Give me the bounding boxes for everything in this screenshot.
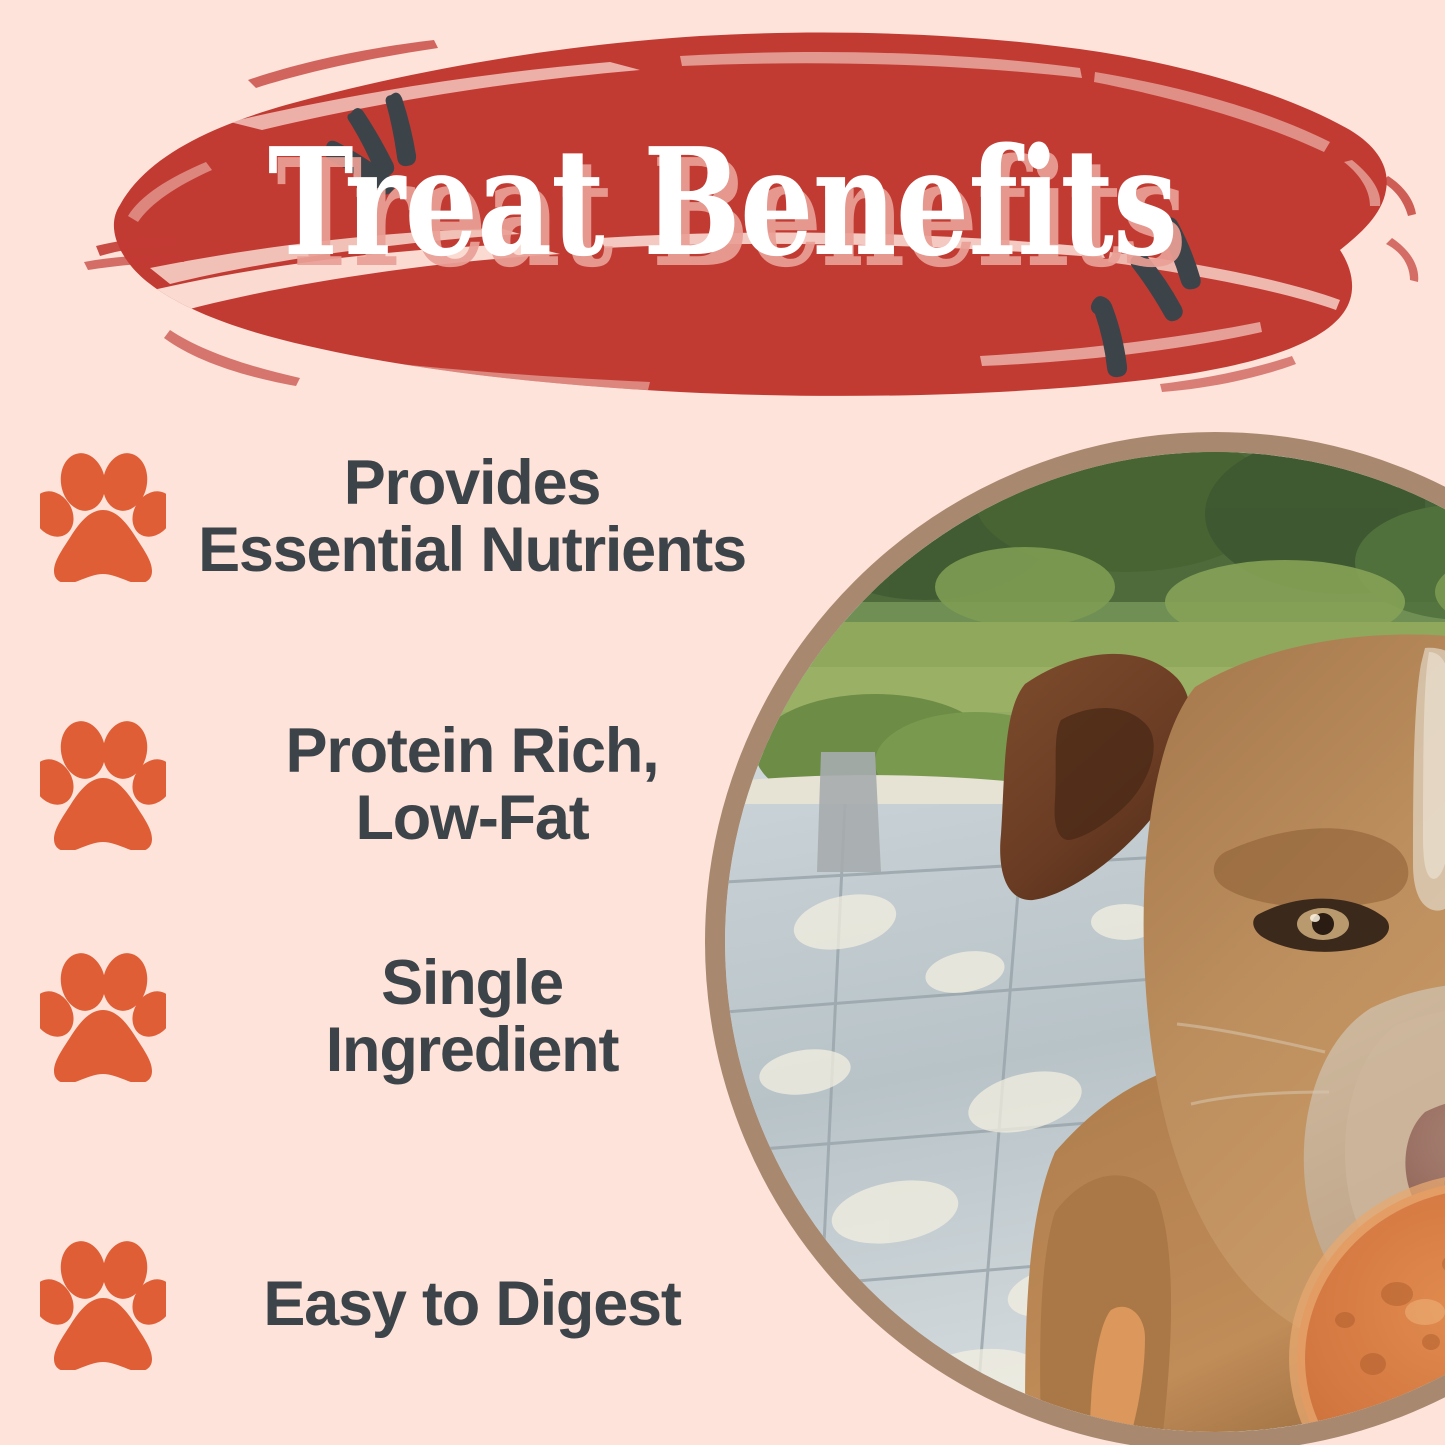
paw-print-icon bbox=[40, 720, 166, 850]
benefit-label: Easy to Digest bbox=[184, 1271, 760, 1338]
paw-print-icon bbox=[40, 1240, 166, 1370]
benefit-line: Provides bbox=[184, 450, 760, 517]
benefit-item-protein-rich-low-fat: Protein Rich, Low-Fat bbox=[40, 718, 760, 853]
benefit-line: Single bbox=[184, 950, 760, 1017]
benefit-line: Low-Fat bbox=[184, 785, 760, 852]
benefit-line: Ingredient bbox=[184, 1017, 760, 1084]
benefit-label: Protein Rich, Low-Fat bbox=[184, 718, 760, 853]
benefit-line: Essential Nutrients bbox=[184, 517, 760, 584]
benefit-line: Easy to Digest bbox=[184, 1271, 760, 1338]
benefit-item-easy-to-digest: Easy to Digest bbox=[40, 1240, 760, 1370]
header-banner: Treat Benefits bbox=[0, 0, 1445, 420]
benefit-line: Protein Rich, bbox=[184, 718, 760, 785]
benefit-item-provides-essential-nutrients: Provides Essential Nutrients bbox=[40, 450, 760, 585]
benefit-item-single-ingredient: Single Ingredient bbox=[40, 950, 760, 1085]
dog-photo-circle bbox=[705, 432, 1445, 1445]
benefit-label: Provides Essential Nutrients bbox=[184, 450, 760, 585]
dog-with-treat-image bbox=[725, 452, 1445, 1432]
paw-print-icon bbox=[40, 952, 166, 1082]
dog-photo bbox=[725, 452, 1445, 1432]
paw-print-icon bbox=[40, 452, 166, 582]
poster-canvas: Treat Benefits Provides Essential Nut bbox=[0, 0, 1445, 1445]
page-title: Treat Benefits bbox=[159, 128, 1286, 276]
benefit-label: Single Ingredient bbox=[184, 950, 760, 1085]
